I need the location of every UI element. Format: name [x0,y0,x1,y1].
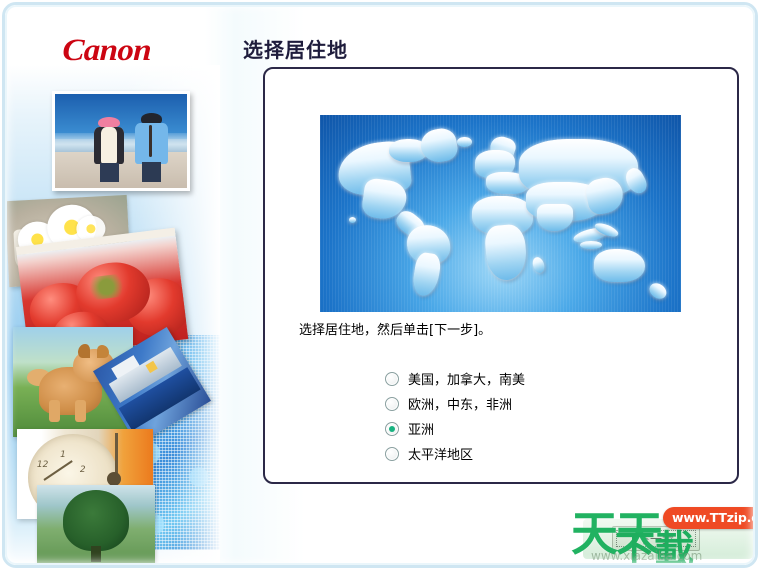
radio-option-label: 欧洲，中东，非洲 [408,394,512,413]
radio-option-label: 亚洲 [408,419,434,438]
dog-leg [75,400,86,422]
instruction-text: 选择居住地，然后单击[下一步]。 [299,319,491,338]
landmass-madagascar [531,256,546,274]
tree-trunk [91,546,100,562]
landmass-new-zealand [646,280,669,302]
radio-icon[interactable] [385,372,399,386]
window-frame: 12 1 2 3 Canon 选择居住地 [2,2,758,568]
beach-friends-photo [52,91,190,191]
tree-landscape-photo [37,485,155,565]
landmass-africa [484,224,528,282]
canon-logo: Canon [62,32,152,68]
world-map-image [320,115,681,312]
dog-ear [97,345,109,358]
next-button[interactable]: 下一步 [612,526,700,551]
dog-ear [78,344,90,358]
dog-leg [49,400,60,422]
landmass-southeast-asia [580,241,602,249]
figure-body [94,127,124,164]
application-window: 12 1 2 3 Canon 选择居住地 [0,0,760,570]
figure-braid [149,125,152,157]
decorative-photo-collage: 12 1 2 3 [5,5,220,568]
radio-option-asia[interactable]: 亚洲 [385,419,525,438]
landmass-iceland [457,137,471,147]
region-radio-group[interactable]: 美国，加拿大，南美 欧洲，中东，非洲 亚洲 太平洋地区 [385,369,525,463]
figure-legs [100,163,119,183]
radio-option-europe-middleeast-africa[interactable]: 欧洲，中东，非洲 [385,394,525,413]
page-title: 选择居住地 [243,34,348,63]
landmass-australia [594,249,645,282]
clock-numeral-1: 1 [60,450,66,460]
pendulum-rod [115,433,118,476]
beach-figure-left [92,117,126,183]
radio-icon-selected[interactable] [385,422,399,436]
next-button-label: 下一步 [638,530,674,547]
radio-option-label: 美国，加拿大，南美 [408,369,525,388]
radio-option-pacific[interactable]: 太平洋地区 [385,444,525,463]
beach-figure-right [134,113,168,183]
landmass-india [537,204,573,232]
content-panel: 选择居住地，然后单击[下一步]。 美国，加拿大，南美 欧洲，中东，非洲 亚洲 太… [263,67,739,484]
figure-legs [142,162,161,182]
tree-crown [63,490,129,551]
radio-option-americas[interactable]: 美国，加拿大，南美 [385,369,525,388]
radio-icon[interactable] [385,397,399,411]
radio-option-label: 太平洋地区 [408,444,473,463]
radio-icon[interactable] [385,447,399,461]
clock-numeral-2: 2 [80,465,86,475]
clock-numeral-12: 12 [37,460,48,470]
landmass-island [349,217,356,223]
landmass-greenland [418,126,459,165]
